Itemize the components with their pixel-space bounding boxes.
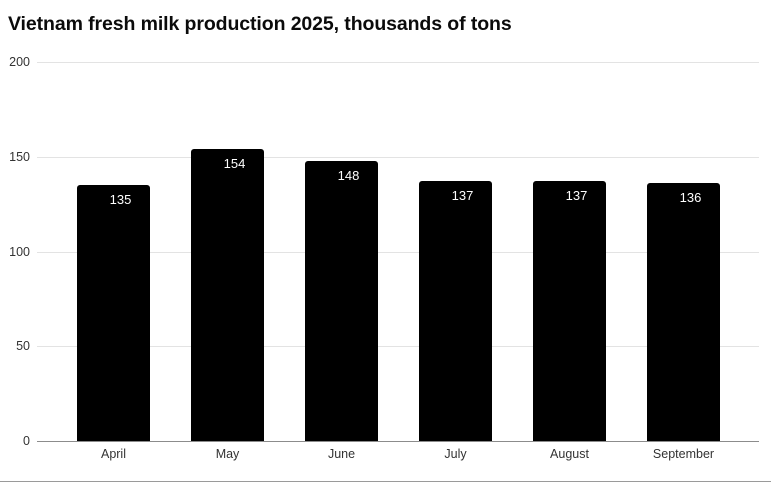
bar-value-label: 154 <box>191 157 264 171</box>
bar-september[interactable]: 136 <box>647 183 720 441</box>
bar-group-august: 137 <box>533 62 606 441</box>
x-tick-label-may: May <box>177 447 278 462</box>
bar-group-september: 136 <box>647 62 720 441</box>
bar-group-june: 148 <box>305 62 378 441</box>
x-tick-label-june: June <box>291 447 392 462</box>
bar-group-april: 135 <box>77 62 150 441</box>
axis-baseline <box>37 441 759 442</box>
bar-chart: Vietnam fresh milk production 2025, thou… <box>0 0 771 489</box>
y-tick-label: 0 <box>0 435 30 447</box>
bar-value-label: 137 <box>533 189 606 203</box>
x-tick-label-august: August <box>519 447 620 462</box>
x-tick-label-april: April <box>63 447 164 462</box>
bar-august[interactable]: 137 <box>533 181 606 441</box>
bar-april[interactable]: 135 <box>77 185 150 441</box>
bar-value-label: 136 <box>647 191 720 205</box>
bar-may[interactable]: 154 <box>191 149 264 441</box>
y-tick-label: 100 <box>0 246 30 258</box>
bottom-divider <box>0 481 771 482</box>
bar-value-label: 135 <box>77 193 150 207</box>
y-tick-label: 50 <box>0 340 30 352</box>
bar-value-label: 137 <box>419 189 492 203</box>
x-tick-label-july: July <box>405 447 506 462</box>
y-tick-label: 150 <box>0 151 30 163</box>
x-axis: April May June July August September <box>37 447 759 467</box>
bar-june[interactable]: 148 <box>305 161 378 442</box>
bars-layer: 135 154 148 137 137 136 <box>37 62 759 441</box>
x-tick-label-september: September <box>633 447 734 462</box>
bar-group-july: 137 <box>419 62 492 441</box>
chart-title: Vietnam fresh milk production 2025, thou… <box>8 12 748 36</box>
bar-value-label: 148 <box>305 169 378 183</box>
bar-group-may: 154 <box>191 62 264 441</box>
bar-july[interactable]: 137 <box>419 181 492 441</box>
y-tick-label: 200 <box>0 56 30 68</box>
